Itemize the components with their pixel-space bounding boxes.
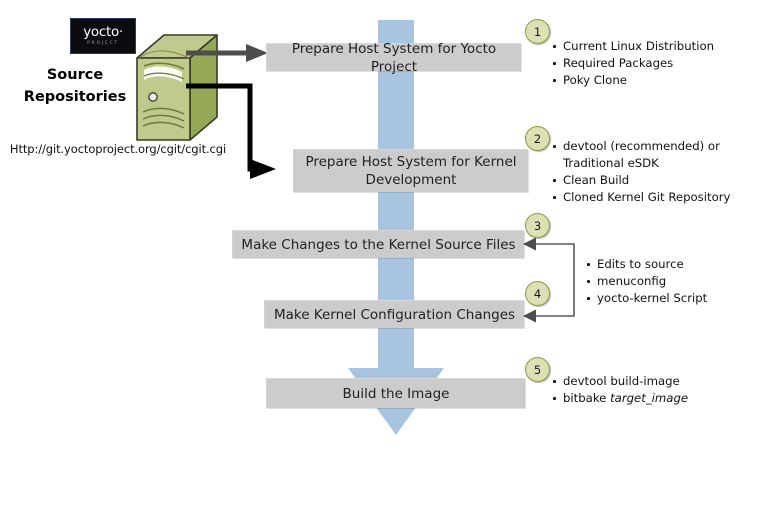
- process-box-step-4[interactable]: Make Kernel Configuration Changes: [264, 300, 524, 328]
- step-badge-3: 3: [525, 213, 550, 238]
- bullet-list-step-5: devtool build-image bitbake target_image: [551, 373, 766, 407]
- yocto-logo-wordmark: yocto·: [83, 26, 123, 39]
- flow-direction-arrow: [330, 20, 480, 500]
- list-item: devtool (recommended) or Traditional eSD…: [551, 138, 766, 172]
- process-box-step-3[interactable]: Make Changes to the Kernel Source Files: [232, 230, 524, 258]
- bitbake-command: bitbake: [563, 391, 610, 405]
- list-item: Clean Build: [551, 172, 766, 189]
- step-badge-5: 5: [525, 357, 550, 382]
- list-item: Current Linux Distribution: [551, 38, 766, 55]
- bullet-list-step-1: Current Linux Distribution Required Pack…: [551, 38, 766, 89]
- feedback-bracket-connector: [520, 236, 582, 324]
- diagram-canvas: yocto· PROJECT Source Repositories Http:…: [0, 0, 769, 517]
- source-label-line1: Source: [14, 64, 136, 86]
- list-item: yocto-kernel Script: [585, 290, 765, 307]
- source-label-line2: Repositories: [14, 86, 136, 108]
- list-item: Poky Clone: [551, 72, 766, 89]
- list-item: bitbake target_image: [551, 390, 766, 407]
- process-box-step-1[interactable]: Prepare Host System for Yocto Project: [266, 43, 521, 71]
- process-box-step-2[interactable]: Prepare Host System for Kernel Developme…: [293, 149, 528, 192]
- yocto-logo-subtext: PROJECT: [87, 40, 119, 47]
- yocto-project-logo: yocto· PROJECT: [70, 18, 136, 54]
- bitbake-target-argument: target_image: [610, 391, 688, 405]
- list-item: menuconfig: [585, 273, 765, 290]
- list-item: devtool build-image: [551, 373, 766, 390]
- step-badge-1: 1: [525, 19, 550, 44]
- list-item: Edits to source: [585, 256, 765, 273]
- source-repositories-label: Source Repositories: [14, 64, 136, 108]
- step-badge-2: 2: [525, 126, 550, 151]
- bullet-list-steps-3-4: Edits to source menuconfig yocto-kernel …: [585, 256, 765, 307]
- process-box-step-5[interactable]: Build the Image: [266, 378, 525, 408]
- list-item: Cloned Kernel Git Repository: [551, 189, 766, 206]
- list-item: Required Packages: [551, 55, 766, 72]
- bullet-list-step-2: devtool (recommended) or Traditional eSD…: [551, 138, 766, 206]
